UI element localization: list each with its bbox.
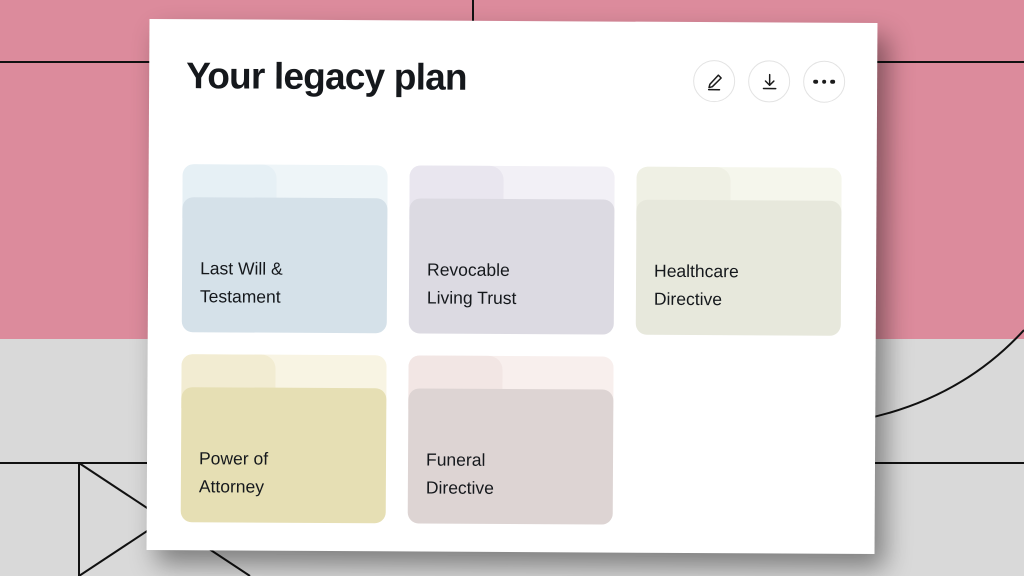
folder-label: Healthcare Directive [654, 257, 827, 314]
folder-label: Power of Attorney [199, 444, 372, 501]
pencil-icon [704, 71, 725, 92]
folder-label: Funeral Directive [426, 446, 599, 503]
folder-card[interactable]: Last Will & Testament [182, 164, 388, 333]
card-header: Your legacy plan [149, 19, 878, 153]
page-title: Your legacy plan [186, 55, 467, 99]
action-bar [693, 60, 845, 103]
folder-label: Revocable Living Trust [427, 256, 600, 313]
more-button[interactable] [803, 61, 845, 103]
download-button[interactable] [748, 60, 790, 102]
download-icon [759, 71, 780, 92]
folder-card[interactable]: Funeral Directive [408, 355, 614, 524]
screen: Your legacy plan [0, 0, 1024, 576]
folder-card[interactable]: Power of Attorney [181, 354, 387, 523]
folder-grid: Last Will & Testament Revocable Living T… [181, 164, 843, 526]
folder-label: Last Will & Testament [200, 254, 373, 311]
edit-button[interactable] [693, 60, 735, 102]
ellipsis-icon [814, 79, 835, 84]
legacy-plan-card: Your legacy plan [147, 19, 878, 554]
folder-card[interactable]: Healthcare Directive [636, 167, 842, 336]
folder-card[interactable]: Revocable Living Trust [409, 165, 615, 334]
